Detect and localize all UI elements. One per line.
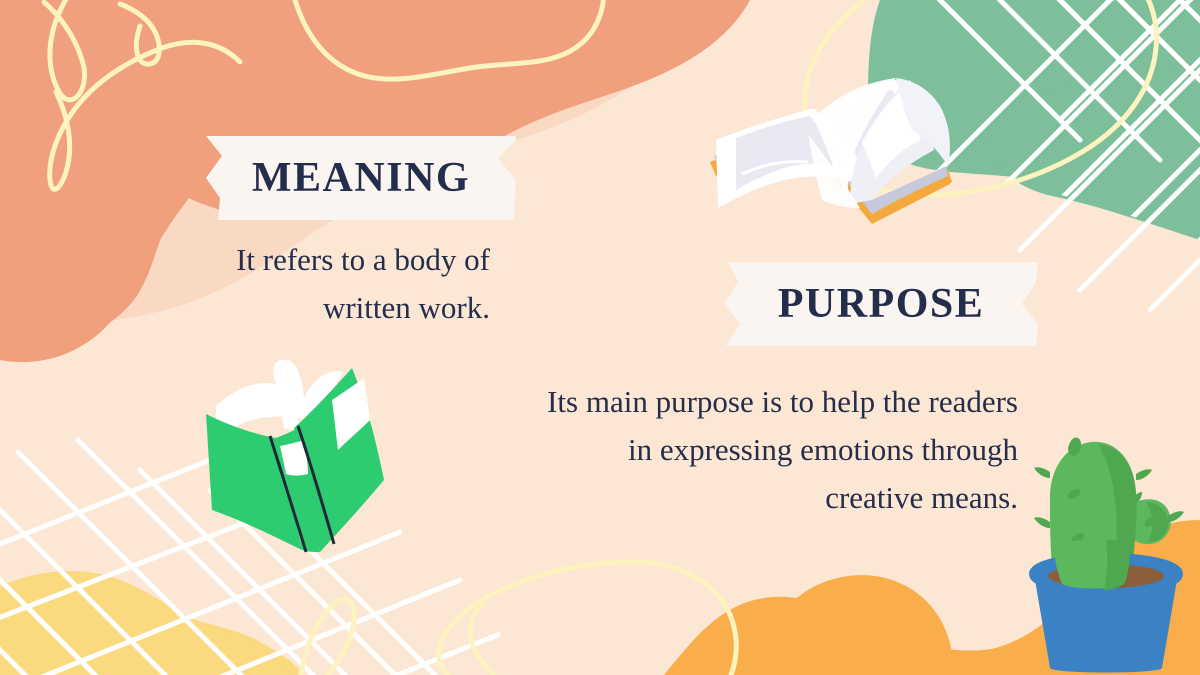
green-book-icon [192,358,416,554]
cactus-icon [1012,426,1200,675]
open-book-illustration [700,78,970,248]
green-book-illustration [192,358,416,554]
orange-blob-bottom-right-bump [760,575,954,675]
section-body-meaning: It refers to a body of written work. [150,236,490,332]
section-heading-purpose: PURPOSE [778,280,985,328]
section-heading-meaning: MEANING [252,154,470,202]
ribbon-banner-meaning: MEANING [206,136,516,220]
cactus-plant-illustration [1012,426,1200,675]
open-book-icon [700,78,970,248]
squiggle-bottom [282,562,736,675]
slide-canvas: MEANING It refers to a body of written w… [0,0,1200,675]
section-body-purpose: Its main purpose is to help the readers … [532,378,1018,522]
ribbon-banner-purpose: PURPOSE [724,262,1038,346]
